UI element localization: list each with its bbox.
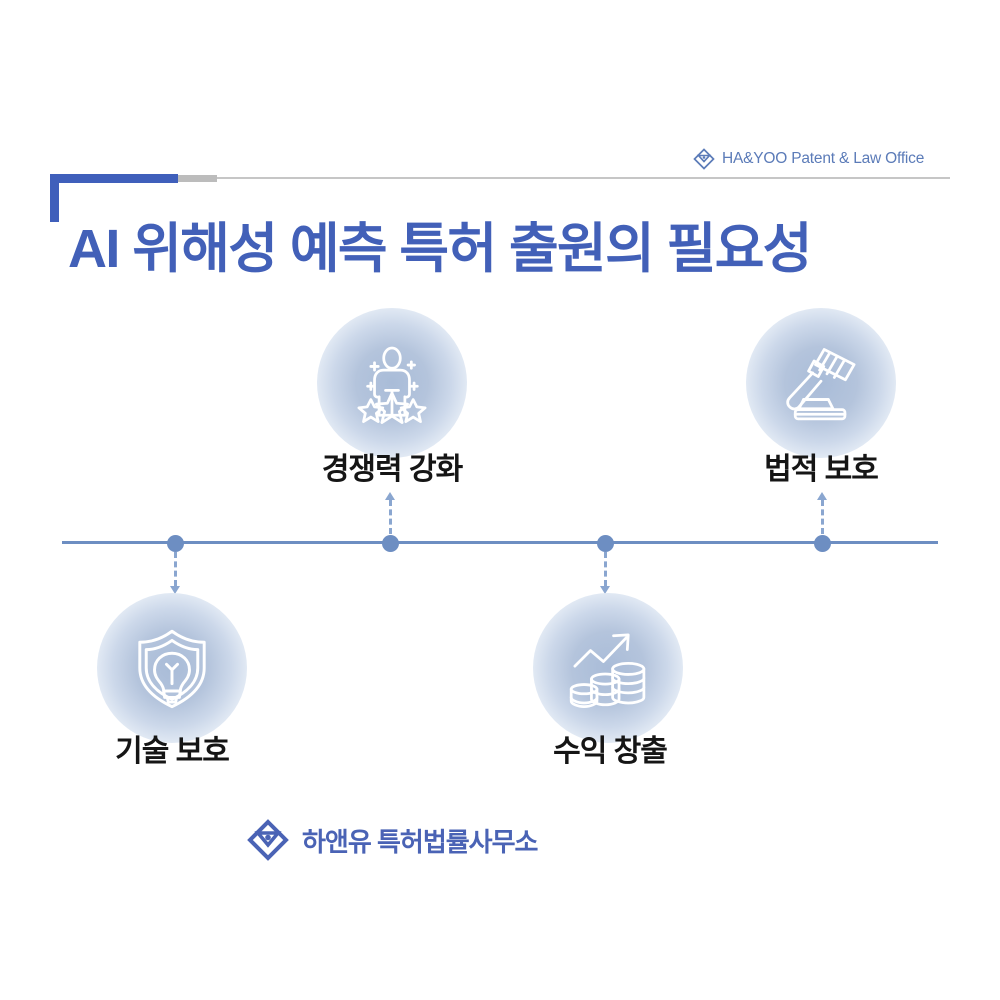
hayoo-diamond-logo-icon <box>693 148 715 170</box>
person-stars-icon <box>346 337 438 429</box>
shield-lightbulb-icon <box>126 622 218 714</box>
connector-3 <box>604 552 607 586</box>
connector-arrowhead-2 <box>385 492 395 500</box>
page-title: AI 위해성 예측 특허 출원의 필요성 <box>68 204 811 283</box>
icon-bubble-competitiveness <box>317 308 467 458</box>
item-label-technology-protection: 기술 보호 <box>115 726 229 770</box>
connector-2 <box>389 500 392 534</box>
timeline-dot-4[interactable] <box>814 535 831 552</box>
title-rule-gray-segment <box>178 175 217 182</box>
header-brand: HA&YOO Patent & Law Office <box>693 148 924 170</box>
connector-1 <box>174 552 177 586</box>
timeline-dot-2[interactable] <box>382 535 399 552</box>
footer-brand-name: 하앤유 특허법률사무소 <box>302 822 537 859</box>
footer-brand: 하앤유 특허법률사무소 <box>246 818 537 862</box>
item-label-legal-protection: 법적 보호 <box>764 444 878 488</box>
header-brand-name: HA&YOO Patent & Law Office <box>722 150 924 168</box>
timeline-dot-3[interactable] <box>597 535 614 552</box>
title-accent-bar <box>50 174 178 183</box>
title-rule-thin-line <box>217 177 950 179</box>
connector-4 <box>821 500 824 534</box>
hayoo-diamond-logo-icon <box>246 818 290 862</box>
icon-bubble-legal-protection <box>746 308 896 458</box>
icon-bubble-revenue-generation <box>533 593 683 743</box>
item-label-revenue-generation: 수익 창출 <box>553 726 667 770</box>
slide-canvas: HA&YOO Patent & Law Office AI 위해성 예측 특허 … <box>0 0 1000 1000</box>
icon-bubble-technology-protection <box>97 593 247 743</box>
timeline-dot-1[interactable] <box>167 535 184 552</box>
title-accent-bracket-stem <box>50 174 59 222</box>
timeline-axis <box>62 541 938 544</box>
item-label-competitiveness: 경쟁력 강화 <box>322 444 462 488</box>
coins-growth-arrow-icon <box>562 622 654 714</box>
connector-arrowhead-4 <box>817 492 827 500</box>
gavel-icon <box>775 337 867 429</box>
